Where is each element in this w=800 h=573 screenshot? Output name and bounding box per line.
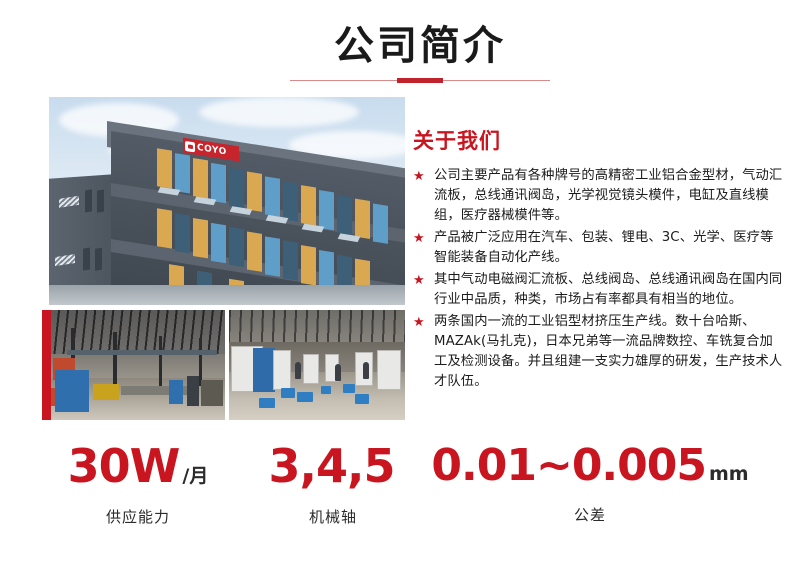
stat-unit: /月 bbox=[182, 465, 208, 487]
stat-value: 30W/月 bbox=[38, 440, 238, 502]
extrusion-workshop-photo bbox=[49, 310, 225, 420]
about-us-bullet-list: ★ 公司主要产品有各种牌号的高精密工业铝合金型材，气动汇流板，总线通讯阀岛，光学… bbox=[413, 166, 785, 392]
list-item: ★ 其中气动电磁阀汇流板、总线阀岛、总线通讯阀岛在国内同行业中品质，种类，市场占… bbox=[413, 270, 785, 310]
page-title: 公司简介 bbox=[290, 22, 550, 70]
office-building-photo: COYO bbox=[49, 97, 405, 305]
photo-collage: COYO bbox=[49, 97, 405, 420]
red-accent-bar bbox=[42, 310, 51, 420]
cnc-workshop-photo bbox=[229, 310, 405, 420]
star-icon: ★ bbox=[413, 167, 425, 187]
stat-label: 供应能力 bbox=[38, 506, 238, 527]
company-profile-page: 公司简介 bbox=[0, 0, 800, 573]
logo-text: COYO bbox=[197, 142, 227, 157]
stat-unit: mm bbox=[709, 463, 749, 485]
title-underline bbox=[290, 78, 550, 84]
list-item: ★ 公司主要产品有各种牌号的高精密工业铝合金型材，气动汇流板，总线通讯阀岛，光学… bbox=[413, 166, 785, 226]
stat-number: 30W bbox=[68, 439, 180, 493]
stat-machine-axes: 3,4,5 机械轴 bbox=[258, 440, 408, 527]
stat-label: 机械轴 bbox=[258, 506, 408, 527]
list-item-text: 其中气动电磁阀汇流板、总线阀岛、总线通讯阀岛在国内同行业中品质，种类，市场占有率… bbox=[434, 272, 782, 307]
logo-mark-icon bbox=[185, 140, 195, 152]
stat-value: 0.01~0.005mm bbox=[420, 440, 760, 500]
list-item-text: 产品被广泛应用在汽车、包装、锂电、3C、光学、医疗等智能装备自动化产线。 bbox=[434, 230, 773, 265]
title-underline-accent bbox=[397, 78, 443, 83]
list-item-text: 两条国内一流的工业铝型材挤压生产线。数十台哈斯、MAZAk(马扎克)，日本兄弟等… bbox=[434, 314, 782, 389]
stat-number: 3,4,5 bbox=[269, 439, 395, 493]
stat-label: 公差 bbox=[420, 504, 760, 525]
about-us-heading: 关于我们 bbox=[413, 125, 785, 155]
stat-number: 0.01~0.005 bbox=[431, 440, 706, 491]
about-us-section: 关于我们 ★ 公司主要产品有各种牌号的高精密工业铝合金型材，气动汇流板，总线通讯… bbox=[413, 125, 785, 394]
list-item-text: 公司主要产品有各种牌号的高精密工业铝合金型材，气动汇流板，总线通讯阀岛，光学视觉… bbox=[434, 168, 782, 223]
stat-supply-capacity: 30W/月 供应能力 bbox=[38, 440, 238, 527]
key-stats-row: 30W/月 供应能力 3,4,5 机械轴 0.01~0.005mm 公差 bbox=[0, 440, 800, 550]
stat-value: 3,4,5 bbox=[258, 440, 408, 502]
building-ground bbox=[49, 285, 405, 305]
star-icon: ★ bbox=[413, 229, 425, 249]
stat-tolerance: 0.01~0.005mm 公差 bbox=[420, 440, 760, 525]
star-icon: ★ bbox=[413, 271, 425, 291]
list-item: ★ 两条国内一流的工业铝型材挤压生产线。数十台哈斯、MAZAk(马扎克)，日本兄… bbox=[413, 312, 785, 392]
star-icon: ★ bbox=[413, 313, 425, 333]
title-block: 公司简介 bbox=[290, 22, 550, 84]
list-item: ★ 产品被广泛应用在汽车、包装、锂电、3C、光学、医疗等智能装备自动化产线。 bbox=[413, 228, 785, 268]
